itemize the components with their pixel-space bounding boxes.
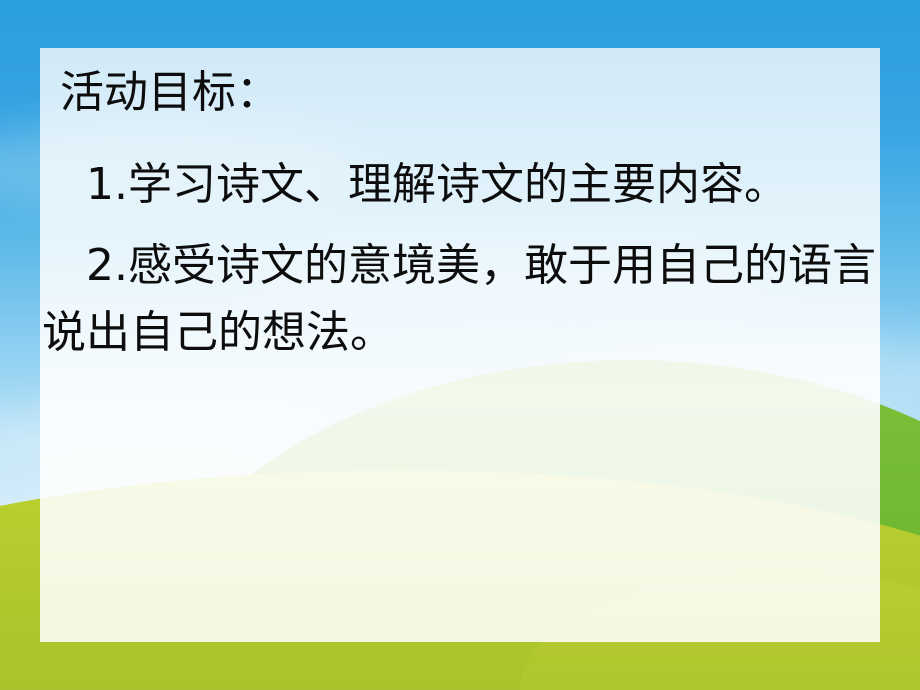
content-panel: 活动目标： 1.学习诗文、理解诗文的主要内容。 2.感受诗文的意境美，敢于用自己… bbox=[40, 48, 880, 642]
objective-item-1: 1.学习诗文、理解诗文的主要内容。 bbox=[42, 152, 894, 219]
slide-title: 活动目标： bbox=[60, 70, 280, 116]
objective-item-2: 2.感受诗文的意境美，敢于用自己的语言说出自己的想法。 bbox=[42, 233, 894, 367]
slide-canvas: 活动目标： 1.学习诗文、理解诗文的主要内容。 2.感受诗文的意境美，敢于用自己… bbox=[0, 0, 920, 690]
objectives-list: 1.学习诗文、理解诗文的主要内容。 2.感受诗文的意境美，敢于用自己的语言说出自… bbox=[42, 152, 894, 381]
content-panel-inner: 活动目标： 1.学习诗文、理解诗文的主要内容。 2.感受诗文的意境美，敢于用自己… bbox=[40, 48, 880, 642]
